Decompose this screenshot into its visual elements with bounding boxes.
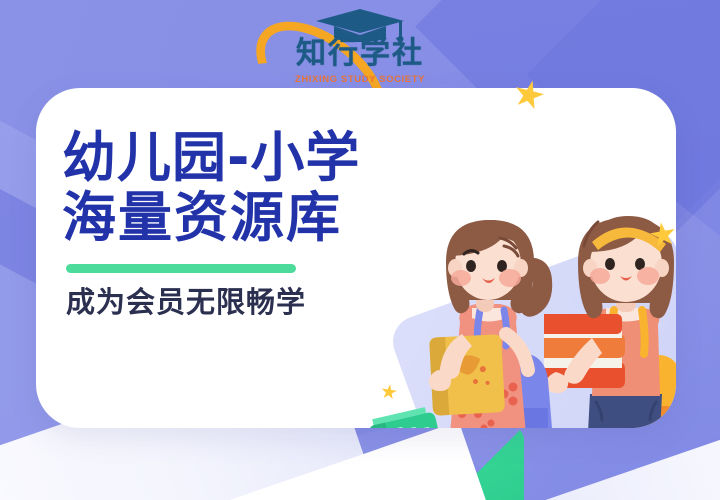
- subheadline: 成为会员无限畅学: [66, 285, 422, 319]
- green-triangle-shape: [398, 426, 524, 500]
- headline-line-1: 幼儿园-小学: [62, 128, 422, 188]
- logo-name-cn: 知行学社: [240, 38, 480, 70]
- headline-line-2: 海量资源库: [62, 188, 422, 248]
- logo-name-en: ZHIXING STUDY SOCIETY: [240, 74, 480, 85]
- content-card: 幼儿园-小学 海量资源库 成为会员无限畅学: [36, 88, 676, 428]
- illustration-girl-with-pigtails: [418, 212, 598, 428]
- bg-band-bottom-left-white-2: [0, 421, 508, 500]
- brand-logo[interactable]: 知行学社 ZHIXING STUDY SOCIETY: [240, 6, 480, 90]
- star-icon-small: [380, 383, 398, 401]
- promo-banner: 知行学社 ZHIXING STUDY SOCIETY: [0, 0, 720, 500]
- headline-divider: [66, 264, 296, 273]
- headline-block: 幼儿园-小学 海量资源库 成为会员无限畅学: [62, 128, 422, 319]
